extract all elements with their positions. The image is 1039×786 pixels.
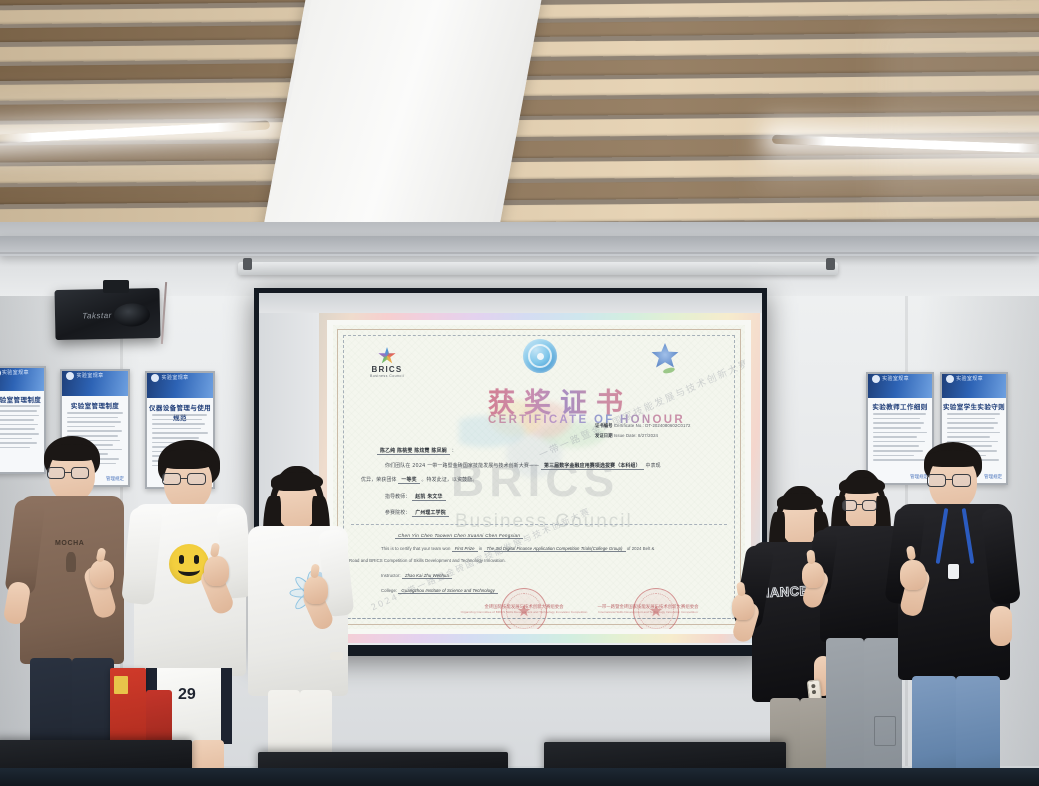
cert-cn-line1-a: 你们团队在 2024 一带一路暨金砖国家技能发展与技术创新大赛—— bbox=[385, 463, 539, 469]
hair-fringe bbox=[160, 449, 216, 469]
poster-header-text: 实验室规章 bbox=[162, 374, 189, 381]
glasses bbox=[927, 474, 946, 487]
wall-speaker: Takstar bbox=[54, 288, 160, 340]
cert-cn-instructor: 指导教师： 赵凯 朱文华 bbox=[385, 493, 446, 500]
thumbs-up-hand bbox=[304, 576, 328, 604]
certificate-document: BRICS Business Council 一带一路暨金砖国家技能发展与技术创… bbox=[333, 325, 745, 629]
forearm-right bbox=[990, 606, 1012, 646]
cert-en-line1-b: of 2024 Belt & bbox=[627, 546, 655, 551]
speaker-mount-bracket bbox=[103, 280, 129, 293]
hair-fringe bbox=[926, 450, 980, 467]
poster-badge-icon bbox=[872, 375, 880, 383]
issue-label-cn: 发证日期 bbox=[595, 433, 613, 438]
badge-card bbox=[948, 564, 959, 579]
poster-badge-icon bbox=[151, 374, 159, 382]
glasses-bridge bbox=[946, 479, 952, 480]
cert-cn-event: 第三届数字金融应用赛项选拔赛（本科组） bbox=[541, 463, 644, 470]
person-center-left bbox=[246, 466, 354, 786]
cert-en-recipients: Chen Yin Chen Taowen Chen Xuanni Chen Fe… bbox=[395, 533, 523, 538]
cert-cn-line1-b: 中表现 bbox=[645, 463, 660, 469]
brics-wordmark: BRICS bbox=[365, 365, 409, 374]
screen-roller-housing bbox=[238, 262, 838, 275]
ceiling-glow-far-right bbox=[880, 20, 1039, 238]
glasses-bridge bbox=[857, 504, 862, 505]
glasses bbox=[71, 467, 89, 479]
cert-en-college: College: Guangzhou Institute of Science … bbox=[381, 588, 498, 593]
official-seal-right bbox=[633, 588, 679, 629]
issue-label-en: Issue Date: bbox=[614, 433, 637, 438]
thumbs-up-hand bbox=[732, 594, 754, 620]
poster-title: 实验室学生实验守则 bbox=[942, 401, 1006, 411]
speaker-cone-icon bbox=[114, 303, 150, 326]
shorts-number: 29 bbox=[178, 686, 196, 704]
floor-edge bbox=[0, 768, 1039, 786]
poster-title: 实验室管理制度 bbox=[62, 400, 128, 410]
photo-scene: Takstar 实验室规章 实验室管理制度 实验室规章 实验室管理制度 bbox=[0, 0, 1039, 786]
issue-value: 8/27/2024 bbox=[638, 433, 658, 438]
leg-right bbox=[864, 638, 902, 786]
cert-en-instructor-label: Instructor: bbox=[381, 573, 401, 578]
poster-header-band: 实验室规章 bbox=[0, 368, 44, 391]
globe-center-dot bbox=[537, 353, 544, 360]
cert-en-prize: First Prize bbox=[452, 546, 478, 552]
screen-roller-bracket-right bbox=[826, 258, 835, 270]
poster-title: 实验室管理制度 bbox=[0, 394, 44, 404]
cert-cn-line2-b: 。特发此证，以资鼓励。 bbox=[421, 477, 477, 483]
cert-en-event: The 3rd Digital Finance Application Comp… bbox=[484, 546, 626, 552]
cert-cn-recipients: 陈乙纯 陈桃雯 陈炫霓 陈凤娴 ： bbox=[377, 447, 457, 454]
thumbs-up-hand bbox=[900, 560, 926, 590]
shirt-logo-icon bbox=[66, 552, 76, 572]
cert-en-instructor-value: Zhao Kai Zhu Wenhua bbox=[402, 573, 452, 579]
official-seal-left bbox=[501, 588, 547, 629]
phone-camera-icon bbox=[812, 690, 816, 694]
thumbs-up-hand bbox=[204, 556, 229, 586]
extinguisher-label bbox=[114, 676, 128, 694]
glasses bbox=[952, 474, 971, 487]
cargo-pocket bbox=[874, 716, 896, 746]
poster-header-text: 实验室规章 bbox=[77, 372, 104, 379]
glasses bbox=[862, 500, 877, 511]
hair-fringe bbox=[271, 472, 323, 491]
cert-en-names: Chen Yin Chen Taowen Chen Xuanni Chen Fe… bbox=[395, 533, 523, 539]
wrist-band bbox=[330, 652, 343, 660]
certificate-issue-row: 发证日期 Issue Date: 8/27/2024 bbox=[595, 433, 658, 439]
cert-en-line1-mid: in bbox=[479, 546, 482, 551]
poster-header-band: 实验室规章 bbox=[942, 374, 1006, 398]
poster-header-band: 实验室规章 bbox=[868, 374, 932, 398]
seal-ring-icon bbox=[506, 593, 542, 629]
cert-no-label-cn: 证书编号 bbox=[595, 423, 613, 428]
cert-en-line2: Road and BRICS Competition of Skills Dev… bbox=[349, 558, 506, 563]
cert-cn-line2: 优异，荣获团体 一等奖 。特发此证，以资鼓励。 bbox=[361, 476, 477, 483]
poster-header-band: 实验室规章 bbox=[62, 371, 128, 396]
poster-badge-icon bbox=[946, 375, 954, 383]
certificate-number-row: 证书编号 Certificate No.: DT-2024080602C0172 bbox=[595, 423, 691, 429]
glasses bbox=[842, 500, 857, 511]
certificate-divider bbox=[351, 524, 727, 525]
thumbs-up-hand bbox=[802, 562, 824, 588]
hair-fringe bbox=[777, 493, 823, 510]
cert-cn-line2-a: 优异，荣获团体 bbox=[361, 477, 397, 483]
glasses bbox=[187, 473, 206, 485]
thumbs-up-hand bbox=[90, 560, 114, 588]
shirt-graphic-text: MOCHA bbox=[55, 540, 84, 547]
cert-en-line1-a: This is to certify that your team won bbox=[381, 546, 450, 551]
leg-left bbox=[826, 638, 864, 786]
brics-star-icon bbox=[378, 347, 396, 365]
cert-cn-college-label: 参赛院校： bbox=[385, 510, 410, 516]
cert-cn-names: 陈乙纯 陈桃雯 陈炫霓 陈凤娴 bbox=[377, 448, 450, 455]
cert-cn-college: 参赛院校： 广州理工学院 bbox=[385, 509, 449, 516]
screen-top-unlit bbox=[259, 293, 762, 313]
poster-title: 实验教师工作细则 bbox=[868, 401, 932, 411]
cert-cn-line1: 你们团队在 2024 一带一路暨金砖国家技能发展与技术创新大赛—— 第三届数字金… bbox=[385, 462, 661, 469]
cert-cn-prize: 一等奖 bbox=[398, 477, 419, 484]
brics-logo: BRICS Business Council bbox=[365, 347, 409, 378]
shorts-stripe-right bbox=[221, 668, 232, 744]
smiley-mouth bbox=[178, 563, 200, 576]
certificate-bottom-dots bbox=[347, 618, 731, 619]
cert-en-college-label: College: bbox=[381, 588, 397, 593]
glasses-bridge bbox=[181, 478, 187, 479]
poster-header-text: 实验室规章 bbox=[2, 369, 29, 376]
ceiling bbox=[0, 0, 1039, 238]
cert-en-college-value: Guangzhou Institute of Science and Techn… bbox=[398, 588, 497, 594]
cert-en-instructor: Instructor: Zhao Kai Zhu Wenhua bbox=[381, 573, 452, 578]
brics-subtitle: Business Council bbox=[365, 374, 409, 378]
hair-fringe bbox=[47, 444, 97, 461]
phone-camera-icon bbox=[811, 684, 815, 688]
cert-en-line1: This is to certify that your team won Fi… bbox=[381, 546, 654, 551]
ceiling-glow-left bbox=[0, 100, 290, 170]
poster-header-text: 实验室规章 bbox=[956, 375, 983, 382]
poster-badge-icon bbox=[66, 372, 74, 380]
glasses bbox=[162, 473, 181, 485]
screen-roller-bracket-left bbox=[243, 258, 252, 270]
person-far-right bbox=[898, 442, 1018, 786]
poster-header-text: 实验室规章 bbox=[882, 375, 909, 382]
globe-icon bbox=[523, 339, 557, 373]
cert-cn-names-suffix: ： bbox=[452, 448, 457, 454]
speaker-brand-label: Takstar bbox=[82, 311, 112, 321]
cert-cn-instructor-label: 指导教师： bbox=[385, 494, 410, 500]
cert-no-label-en: Certificate No.: bbox=[614, 423, 644, 428]
poster-header-band: 实验室规章 bbox=[147, 373, 213, 398]
cert-cn-college-value: 广州理工学院 bbox=[412, 510, 449, 517]
cert-no-value: DT-2024080602C0172 bbox=[645, 423, 690, 428]
glasses-bridge bbox=[65, 472, 71, 473]
hair-fringe bbox=[839, 477, 885, 494]
thumb-up-icon bbox=[806, 550, 815, 565]
wall-panel-seam bbox=[0, 252, 1039, 254]
glasses bbox=[47, 467, 65, 479]
cert-cn-instructor-value: 赵凯 朱文华 bbox=[412, 494, 445, 501]
seal-ring-icon bbox=[638, 593, 674, 629]
